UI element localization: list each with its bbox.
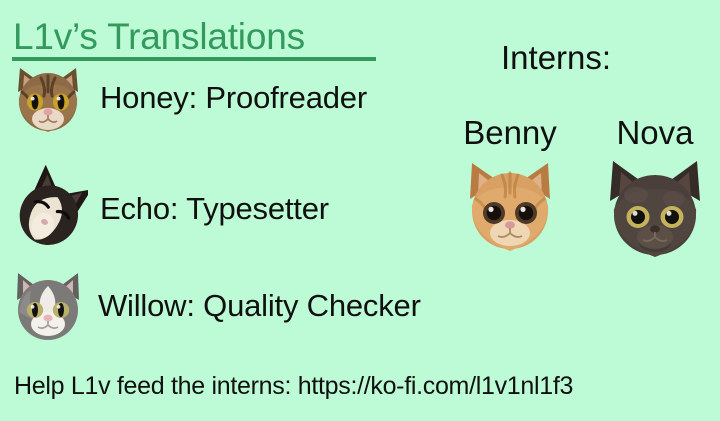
title-underline [12, 57, 376, 61]
intern-nova-name: Nova [590, 116, 720, 149]
staff-row-honey: Honey: Proofreader [0, 62, 367, 134]
intern-benny-name: Benny [445, 116, 575, 149]
willow-portrait [0, 268, 96, 344]
cat-face-dark-kitten-icon [600, 155, 710, 265]
benny-portrait [445, 155, 575, 259]
willow-role-label: Willow: Quality Checker [98, 288, 421, 324]
interns-heading: Interns: [501, 39, 611, 77]
cat-face-black-and-white-icon [8, 165, 88, 253]
cat-face-ginger-kitten-icon [458, 155, 562, 259]
support-footer-text[interactable]: Help L1v feed the interns: https://ko-fi… [14, 372, 573, 401]
cat-face-grey-and-white-icon [7, 268, 89, 344]
page-title: L1v’s Translations [13, 18, 305, 57]
cat-face-brown-tabby-icon [8, 62, 88, 134]
intern-nova: Nova [590, 116, 720, 265]
staff-row-echo: Echo: Typesetter [0, 165, 329, 253]
translation-credits-card: L1v’s Translations [0, 0, 720, 421]
staff-row-willow: Willow: Quality Checker [0, 268, 421, 344]
nova-portrait [590, 155, 720, 265]
echo-role-label: Echo: Typesetter [100, 191, 329, 227]
echo-portrait [0, 165, 96, 253]
intern-benny: Benny [445, 116, 575, 259]
honey-role-label: Honey: Proofreader [100, 80, 367, 116]
honey-portrait [0, 62, 96, 134]
